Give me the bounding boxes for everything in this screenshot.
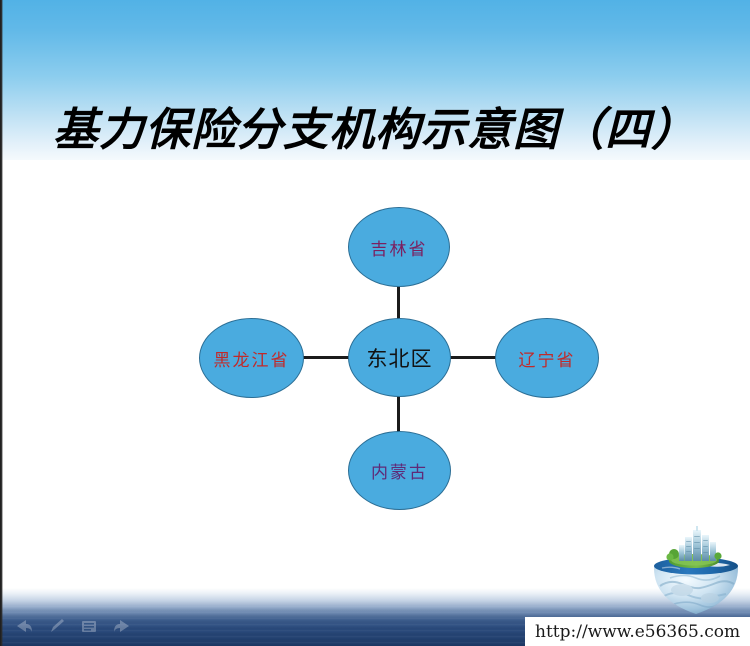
diagram-node-jilin[interactable]: 吉林省: [348, 207, 450, 287]
menu-box-icon[interactable]: [80, 618, 98, 634]
presentation-slide: 基力保险分支机构示意图（四） 吉林省 黑龙江省 东北区 辽宁省 内蒙古: [0, 0, 750, 646]
connector-center-to-bottom: [397, 393, 400, 434]
org-structure-diagram: 吉林省 黑龙江省 东北区 辽宁省 内蒙古: [0, 0, 750, 646]
slideshow-nav-controls[interactable]: [14, 618, 132, 634]
connector-center-to-top: [397, 283, 400, 323]
connector-center-to-left: [300, 356, 352, 359]
watermark-url-text: http://www.e56365.com: [535, 622, 740, 642]
connector-center-to-right: [447, 356, 499, 359]
globe-city-logo-icon: [648, 524, 744, 616]
diagram-node-heilongjiang[interactable]: 黑龙江省: [199, 318, 304, 398]
previous-arrow-icon[interactable]: [14, 618, 34, 634]
watermark-url-bar: http://www.e56365.com: [525, 617, 750, 646]
diagram-node-liaoning[interactable]: 辽宁省: [495, 318, 599, 398]
next-arrow-icon[interactable]: [112, 618, 132, 634]
diagram-node-northeast-region[interactable]: 东北区: [348, 318, 451, 397]
diagram-node-inner-mongolia[interactable]: 内蒙古: [348, 431, 451, 510]
pen-icon[interactable]: [48, 618, 66, 634]
